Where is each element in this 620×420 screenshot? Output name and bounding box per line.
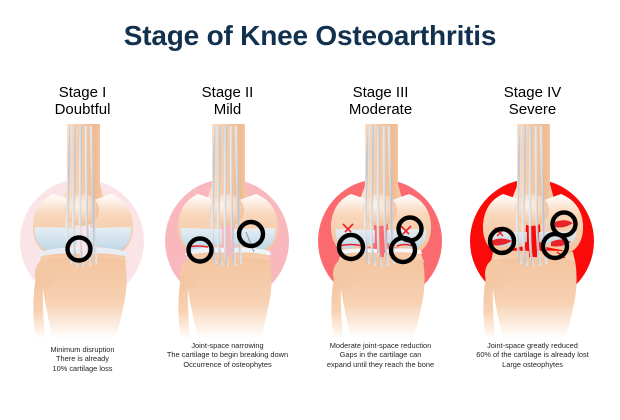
stage-label-1: Stage I Doubtful [5,84,160,118]
knee-illustration-1 [5,124,160,339]
knee-illustration-4 [455,124,610,339]
knee-illustration-2 [150,124,305,339]
knee-illustration-3 [303,124,458,339]
stage-caption-2: Joint-space narrowing The cartilage to b… [150,341,305,369]
stage-column-2: Stage II Mild [150,84,305,369]
stage-caption-1: Minimum disruption There is already 10% … [5,345,160,373]
stage-label-4: Stage IV Severe [455,84,610,118]
stage-caption-4: Joint-space greatly reduced 60% of the c… [455,341,610,369]
stage-column-4: Stage IV Severe [455,84,610,369]
stage-caption-3: Moderate joint-space reduction Gaps in t… [303,341,458,369]
page-title: Stage of Knee Osteoarthritis [0,20,620,52]
stage-column-1: Stage I Doubtful [5,84,160,373]
stage-column-3: Stage III Moderate [303,84,458,369]
stage-label-2: Stage II Mild [150,84,305,118]
stage-label-3: Stage III Moderate [303,84,458,118]
